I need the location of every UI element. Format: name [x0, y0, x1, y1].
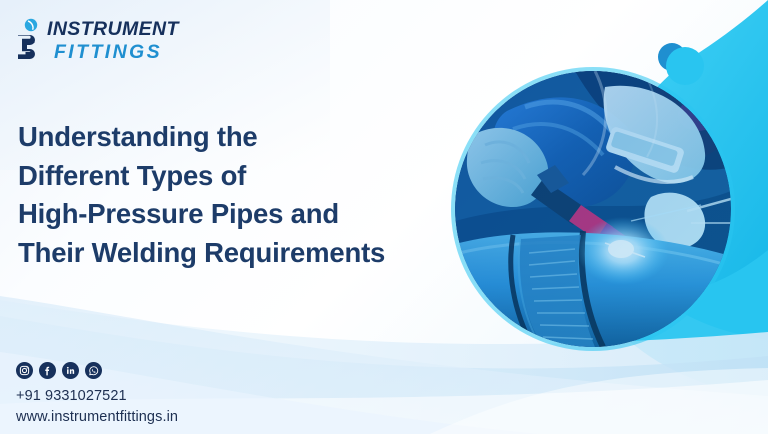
instagram-icon[interactable]: [16, 362, 33, 379]
website-url[interactable]: www.instrumentfittings.in: [16, 407, 178, 428]
social-links: [16, 362, 178, 379]
headline-line-2: Different Types of: [18, 157, 385, 196]
pipe-fitting-logo-mark: [14, 18, 44, 64]
contact-block: +91 9331027521 www.instrumentfittings.in: [16, 362, 178, 427]
site-logo[interactable]: INSTRUMENT FITTINGS: [14, 18, 179, 64]
welding-photo: [455, 71, 731, 347]
headline-line-4: Their Welding Requirements: [18, 234, 385, 273]
headline-line-1: Understanding the: [18, 118, 385, 157]
logo-text-secondary: FITTINGS: [54, 43, 179, 63]
facebook-icon[interactable]: [39, 362, 56, 379]
logo-text-primary: INSTRUMENT: [47, 20, 179, 40]
whatsapp-icon[interactable]: [85, 362, 102, 379]
decor-circle-large: [666, 47, 704, 85]
promo-banner: INSTRUMENT FITTINGS Understanding the Di…: [0, 0, 768, 434]
phone-number[interactable]: +91 9331027521: [16, 386, 178, 407]
welding-photo-illustration: [455, 71, 731, 347]
headline-line-3: High-Pressure Pipes and: [18, 195, 385, 234]
linkedin-icon[interactable]: [62, 362, 79, 379]
page-title: Understanding the Different Types of Hig…: [18, 118, 385, 272]
